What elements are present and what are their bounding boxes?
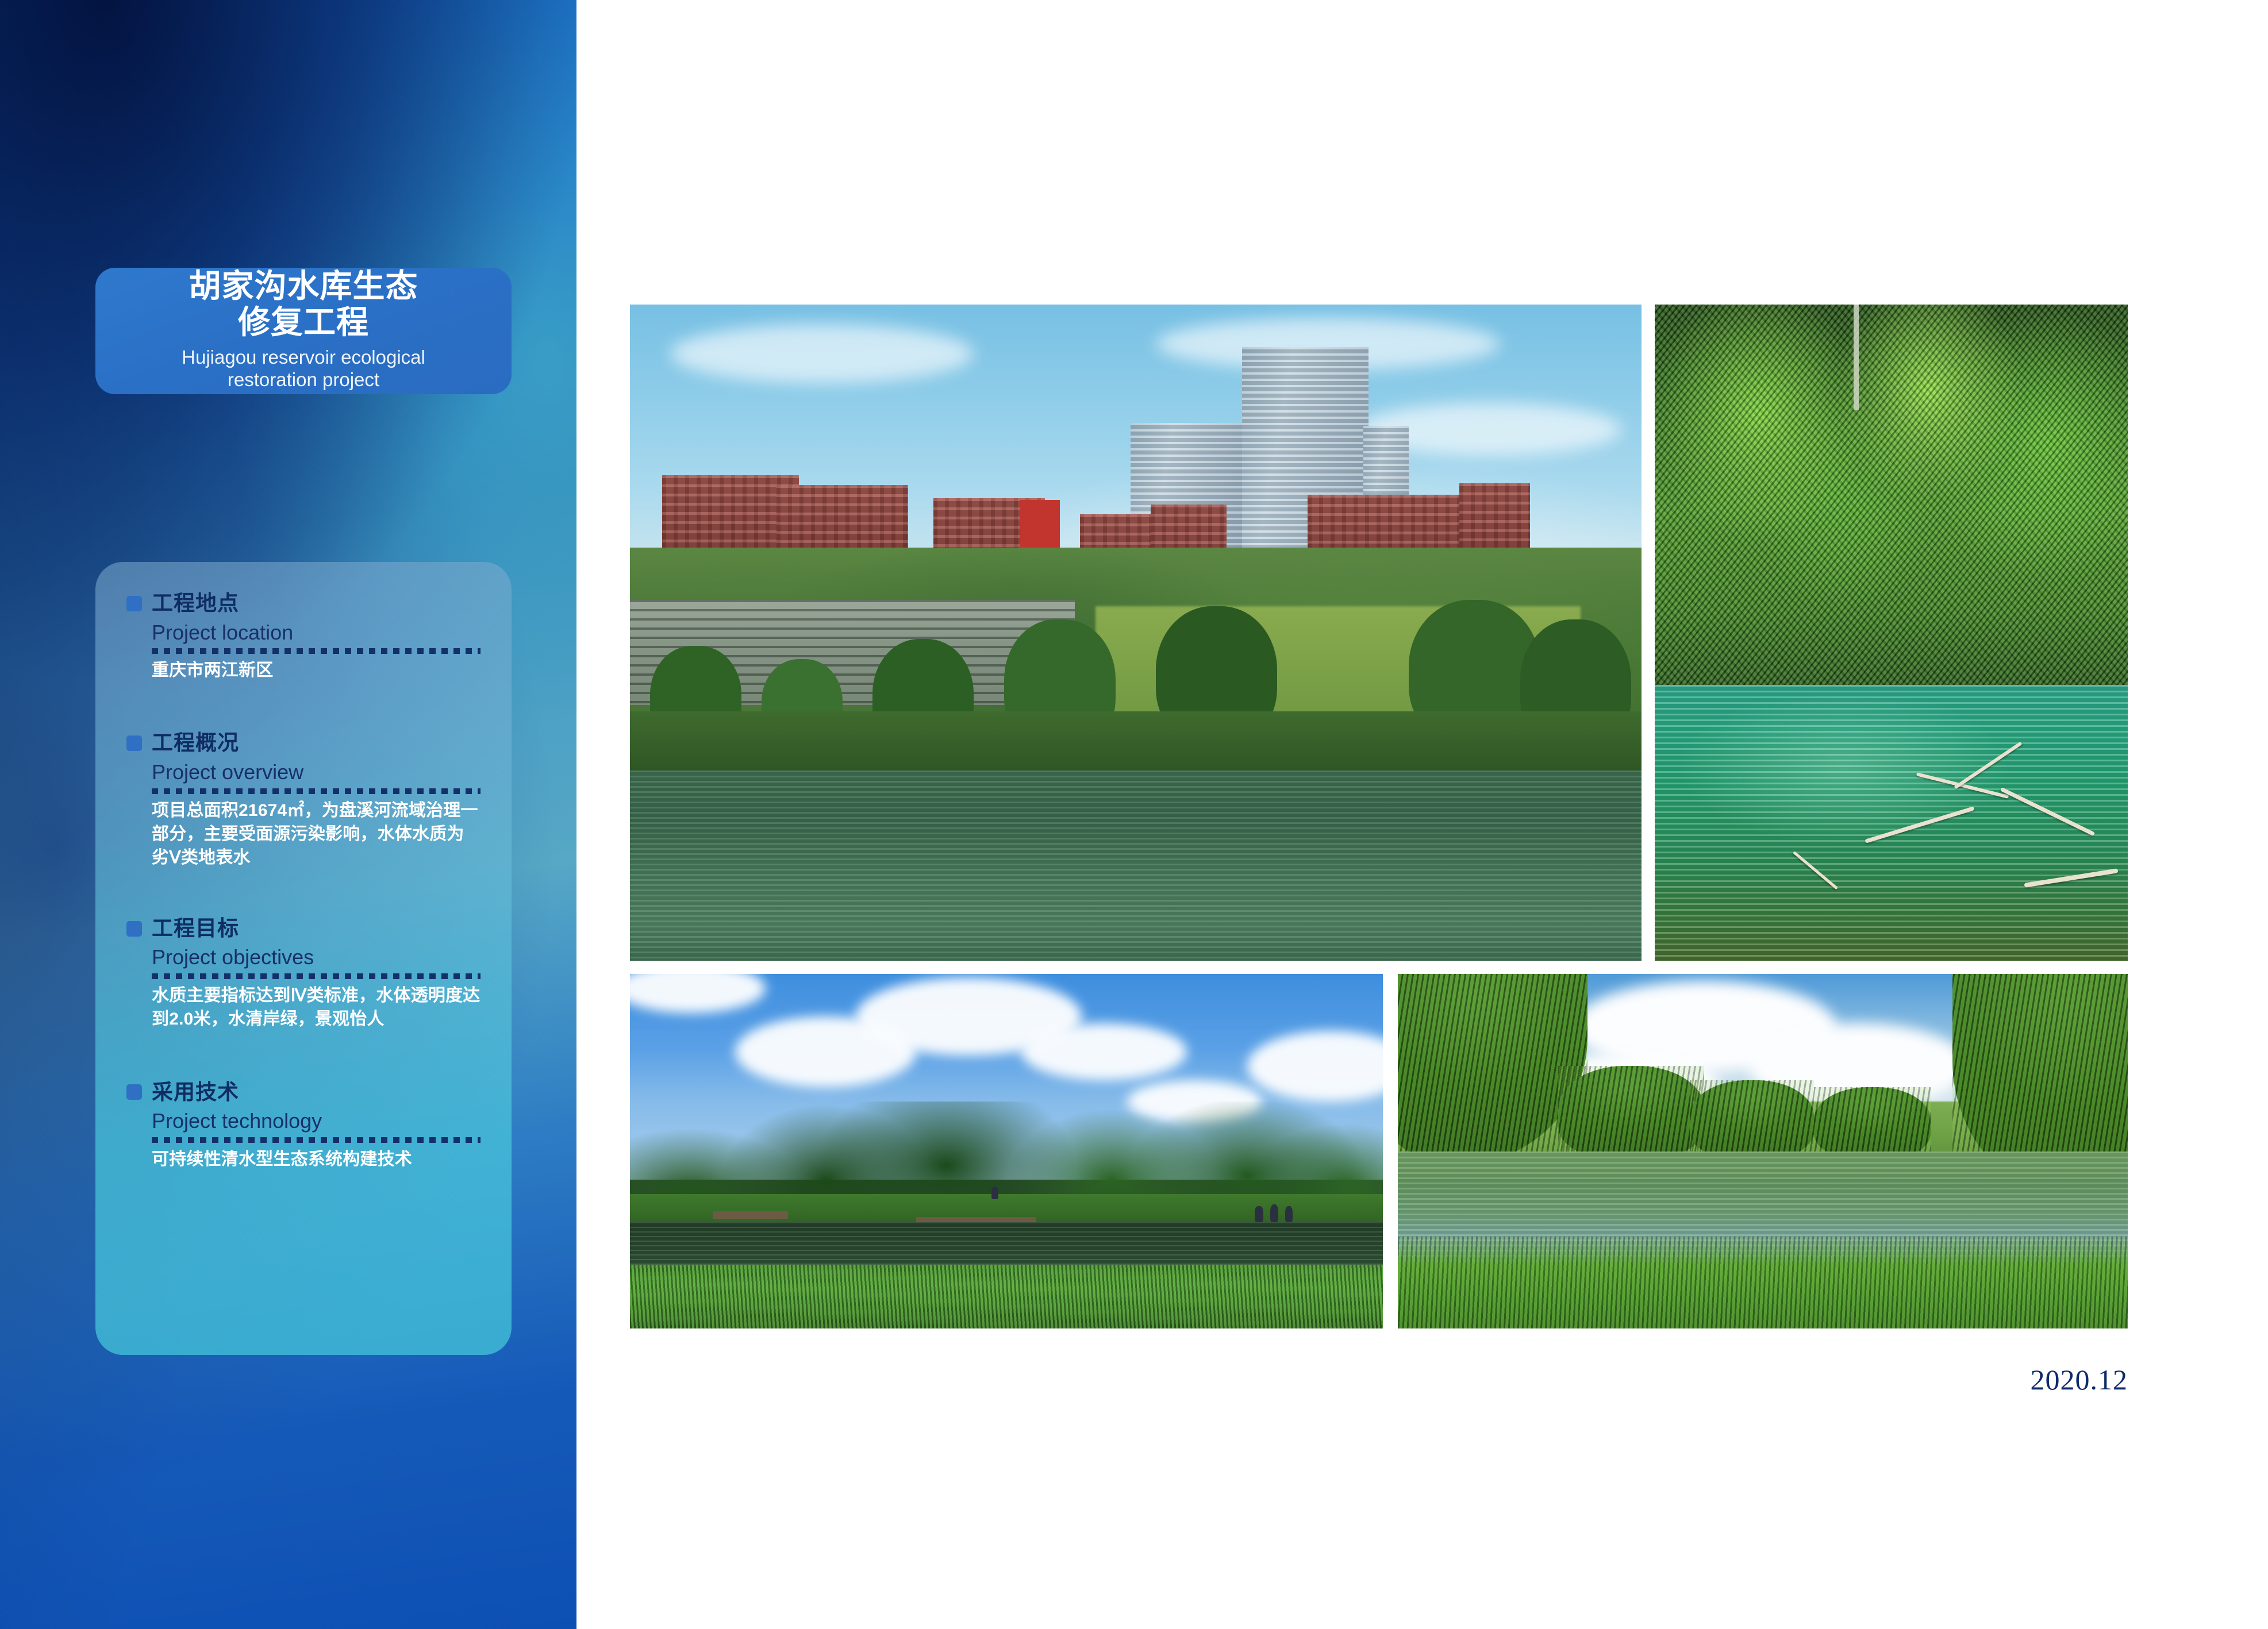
info-label-cn: 工程目标 (152, 917, 239, 941)
slide-root: 胡家沟水库生态 修复工程 Hujiagou reservoir ecologic… (0, 0, 2268, 1629)
info-section-technology: 采用技术 Project technology 可持续性清水型生态系统构建技术 (95, 1081, 512, 1171)
info-section-header: 工程地点 (126, 592, 480, 615)
park-pond-boardwalk-photo (630, 974, 1383, 1328)
info-label-en: Project technology (152, 1109, 480, 1133)
dotted-divider (152, 1137, 480, 1143)
foreground-grass (1398, 1237, 2128, 1328)
info-label-cn: 工程地点 (152, 592, 239, 615)
info-label-en: Project objectives (152, 945, 480, 969)
bullet-square-icon (126, 1084, 142, 1100)
cloud-shape (1021, 1023, 1187, 1080)
visitor-figure (1285, 1206, 1293, 1222)
info-label-en: Project location (152, 621, 480, 644)
section-spacer (95, 1031, 512, 1081)
visitor-figure (1270, 1204, 1278, 1222)
info-section-header: 工程目标 (126, 917, 480, 941)
section-spacer (95, 682, 512, 731)
info-body-text: 重庆市两江新区 (152, 658, 480, 682)
foreground-reeds (630, 1265, 1383, 1328)
date-label: 2020.12 (1955, 1363, 2128, 1396)
info-section-header: 采用技术 (126, 1081, 480, 1104)
dotted-divider (152, 788, 480, 794)
project-title-en: Hujiagou reservoir ecological restoratio… (182, 346, 425, 391)
info-body-text: 水质主要指标达到Ⅳ类标准，水体透明度达到2.0米，水清岸绿，景观怡人 (152, 984, 480, 1031)
photo-gallery (630, 305, 2130, 1328)
bullet-square-icon (126, 735, 142, 751)
bullet-square-icon (126, 921, 142, 937)
project-title-cn: 胡家沟水库生态 修复工程 (189, 268, 418, 340)
dotted-divider (152, 648, 480, 654)
info-label-cn: 采用技术 (152, 1081, 239, 1104)
info-body-text: 可持续性清水型生态系统构建技术 (152, 1147, 480, 1171)
tree-trunk (1854, 305, 1859, 410)
cloud-shape (670, 324, 974, 383)
bullet-square-icon (126, 596, 142, 611)
project-info-card: 工程地点 Project location 重庆市两江新区 工程概况 Proje… (95, 562, 512, 1355)
willow-pond-reflection-photo (1398, 974, 2128, 1328)
boardwalk-deck (713, 1211, 788, 1218)
info-section-objectives: 工程目标 Project objectives 水质主要指标达到Ⅳ类标准，水体透… (95, 917, 512, 1031)
info-section-location: 工程地点 Project location 重庆市两江新区 (95, 592, 512, 682)
project-title-card: 胡家沟水库生态 修复工程 Hujiagou reservoir ecologic… (95, 268, 512, 394)
section-spacer (95, 870, 512, 917)
reservoir-water (630, 771, 1642, 961)
info-label-en: Project overview (152, 760, 480, 784)
clear-water-layer (1655, 685, 2128, 961)
willow-tree (1690, 1080, 1814, 1158)
dotted-divider (152, 973, 480, 979)
visitor-figure (1255, 1206, 1263, 1222)
info-label-cn: 工程概况 (152, 731, 239, 755)
clear-green-water-foliage-photo (1655, 305, 2128, 961)
info-body-text: 项目总面积21674㎡，为盘溪河流域治理一部分，主要受面源污染影响，水体水质为劣… (152, 799, 480, 870)
willow-tree (1558, 1066, 1704, 1158)
urban-skyline-reservoir-photo (630, 305, 1642, 961)
visitor-figure (991, 1187, 998, 1199)
info-section-header: 工程概况 (126, 731, 480, 755)
dense-foliage-layer (1655, 305, 2128, 698)
willow-tree (1814, 1087, 1931, 1158)
info-section-overview: 工程概况 Project overview 项目总面积21674㎡，为盘溪河流域… (95, 731, 512, 869)
